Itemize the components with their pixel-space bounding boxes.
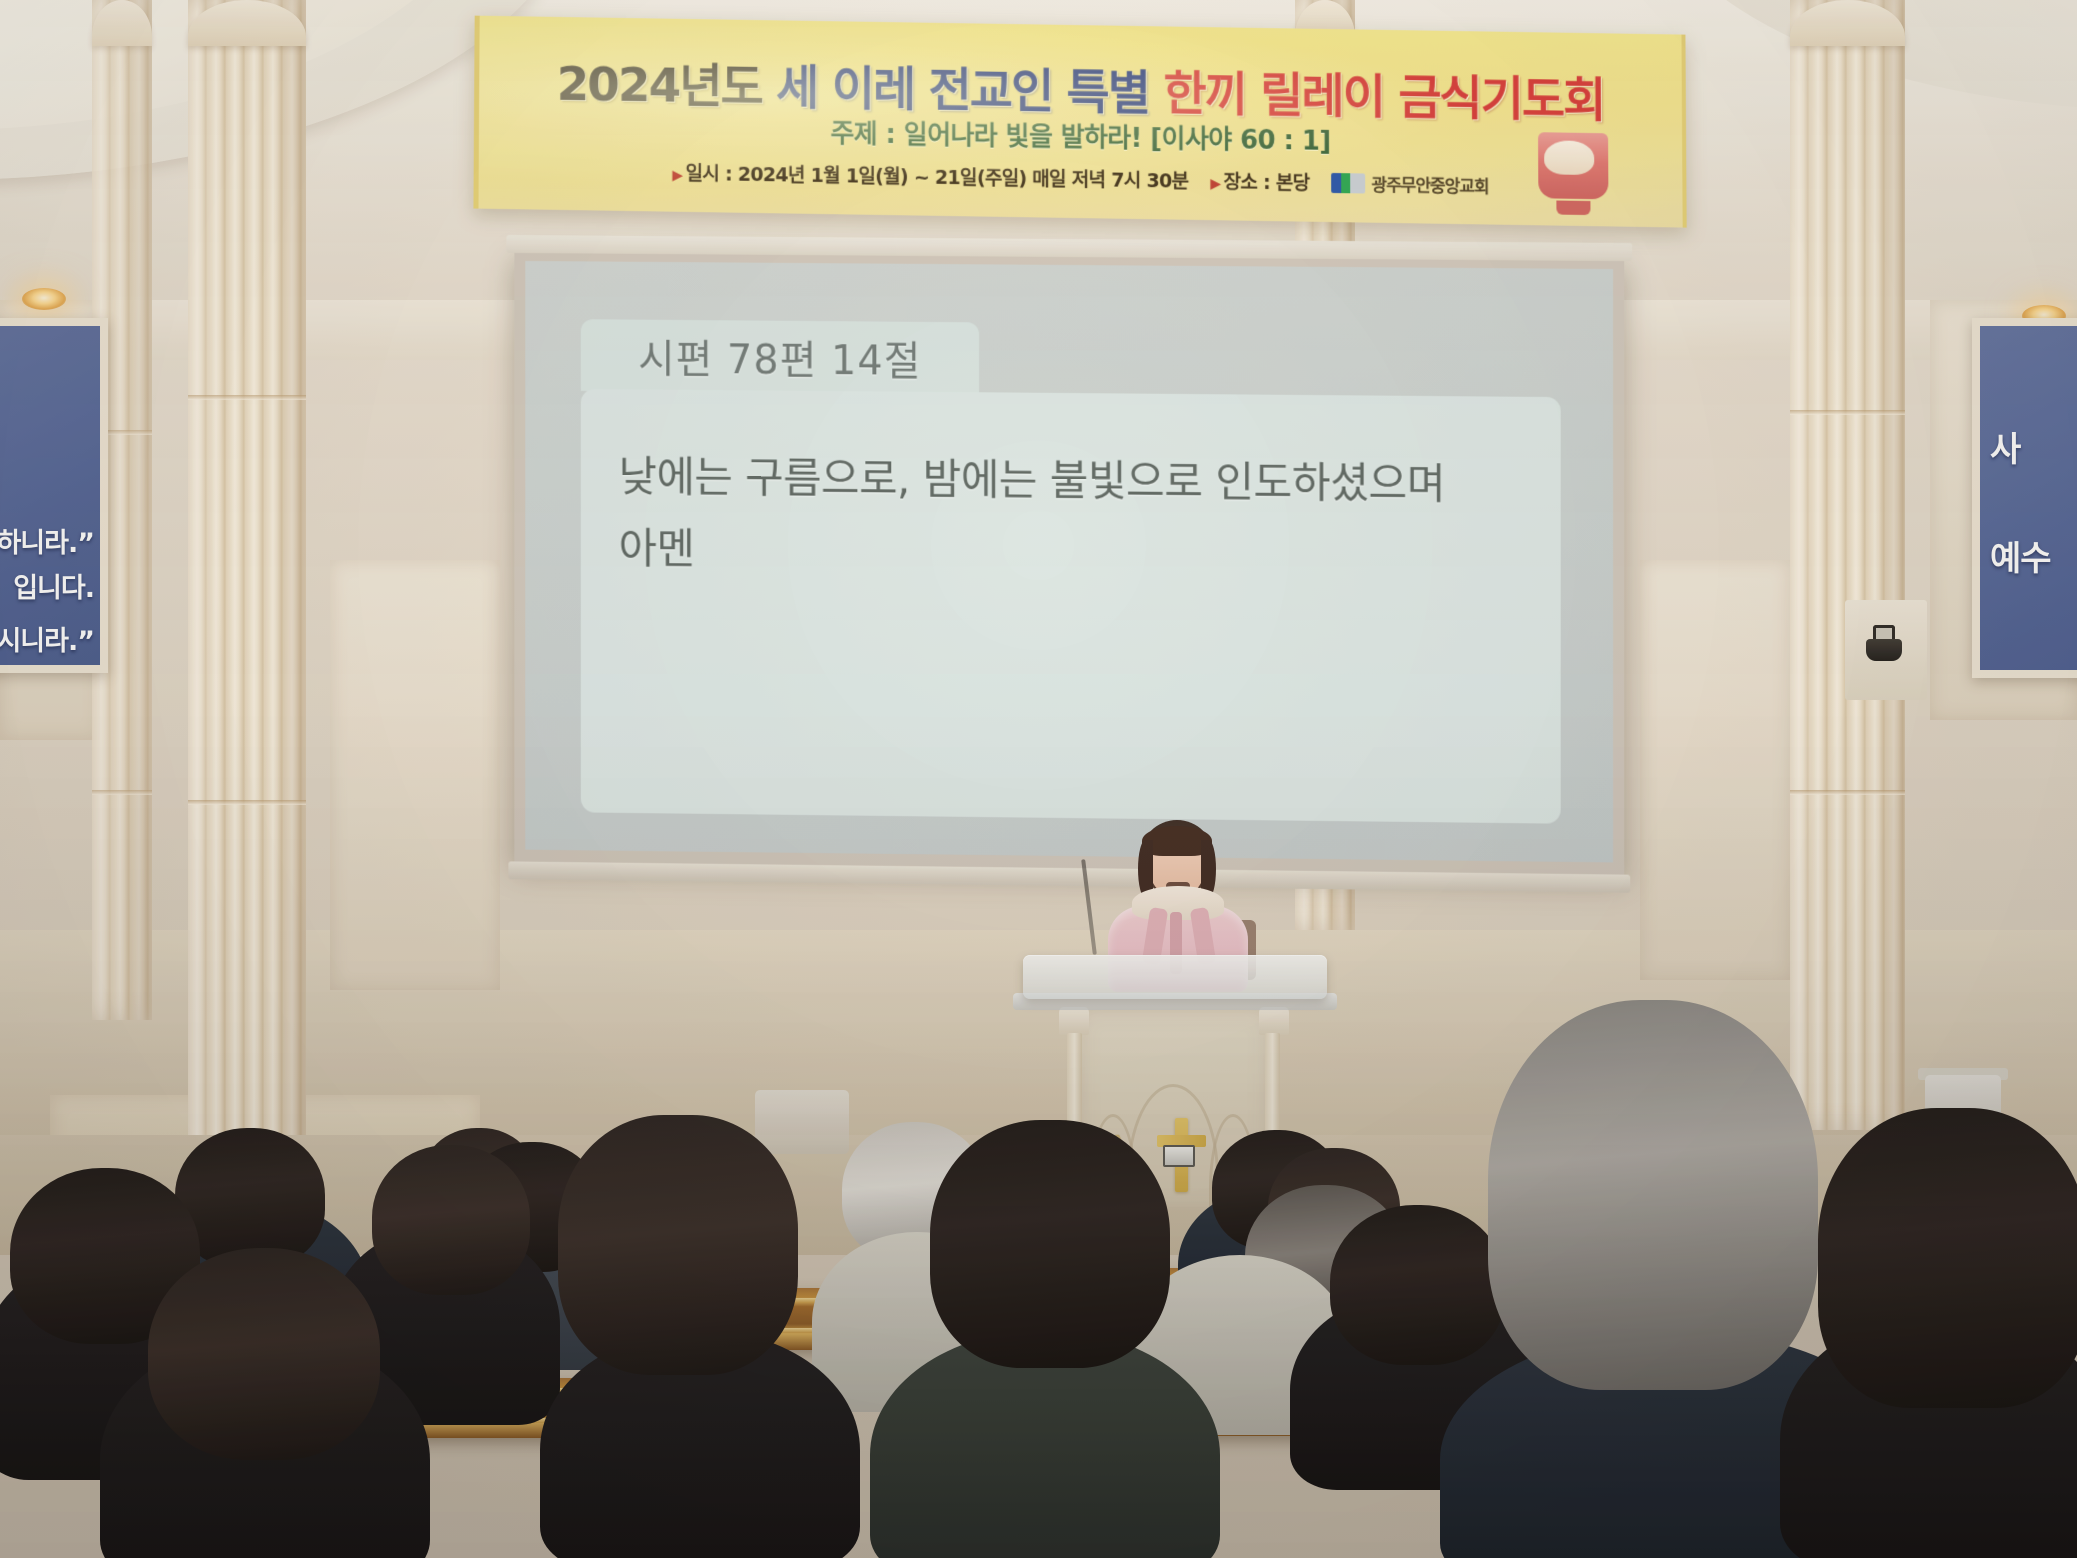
banner-date-label: 일시 — [685, 163, 719, 186]
pulpit-capital-left — [1059, 1007, 1089, 1035]
ptz-camera-icon — [1862, 625, 1906, 663]
pulpit-badge — [1163, 1145, 1195, 1167]
column-right — [1790, 0, 1905, 1130]
audience-head-bob — [558, 1115, 798, 1375]
slide-body: 낮에는 구름으로, 밤에는 불빛으로 인도하셨으며 아멘 — [581, 389, 1561, 824]
column-ring — [1790, 790, 1905, 795]
column-capital — [92, 0, 152, 46]
audience-head — [1818, 1108, 2077, 1408]
audience-head — [1330, 1205, 1505, 1365]
bowl-body — [1538, 132, 1608, 199]
flower-stand — [755, 1090, 849, 1154]
wall-banner-right-line-2: 예수 — [1980, 531, 2077, 580]
banner-place-label: 장소 — [1223, 171, 1257, 194]
slide-amen-line: 아멘 — [619, 513, 1523, 594]
projection-screen: 시편 78편 14절 낮에는 구름으로, 밤에는 불빛으로 인도하셨으며 아멘 — [514, 251, 1624, 877]
wall-banner-left-line-3: 리라 하시니라.” — [0, 619, 100, 658]
event-banner: 2024년도 세 이레 전교인 특별 한끼 릴레이 금식기도회 주제 : 일어나… — [473, 16, 1686, 228]
banner-place-group: ▶장소 : 본당 — [1210, 167, 1309, 196]
pulpit-top — [1023, 955, 1327, 999]
wall-banner-left: 하니라.” 입니다. 리라 하시니라.” — [0, 318, 108, 673]
rice-bowl-icon — [1530, 106, 1617, 205]
column-ring — [1790, 410, 1905, 415]
slide-verse-line: 낮에는 구름으로, 밤에는 불빛으로 인도하셨으며 — [619, 441, 1523, 521]
camera-body — [1866, 639, 1902, 661]
banner-date-value: 2024년 1월 1일(월) ~ 21일(주일) 매일 저녁 7시 30분 — [738, 164, 1189, 193]
screen-surface: 시편 78편 14절 낮에는 구름으로, 밤에는 불빛으로 인도하셨으며 아멘 — [525, 261, 1613, 862]
church-sanctuary-photo: 하니라.” 입니다. 리라 하시니라.” 사 예수 시편 78편 14절 낮에는… — [0, 0, 2077, 1558]
marker-icon: ▶ — [672, 168, 682, 184]
audience-head — [148, 1248, 380, 1460]
presentation-slide: 시편 78편 14절 낮에는 구름으로, 밤에는 불빛으로 인도하셨으며 아멘 — [525, 261, 1613, 862]
banner-title-year: 2024년도 — [556, 57, 761, 115]
column-left — [188, 0, 306, 1170]
pulpit-capital-right — [1259, 1007, 1289, 1035]
wall-banner-left-line-1: 하니라.” — [0, 521, 100, 560]
audience-head — [930, 1120, 1170, 1368]
church-name: 광주무안중앙교회 — [1371, 171, 1488, 198]
church-logo-icon — [1331, 172, 1365, 193]
wall-banner-right: 사 예수 — [1972, 318, 2077, 678]
banner-detail-row: ▶일시 : 2024년 1월 1일(월) ~ 21일(주일) 매일 저녁 7시 … — [479, 156, 1683, 202]
marker-icon: ▶ — [1210, 176, 1220, 192]
column-ring — [188, 395, 306, 400]
bowl-rice — [1544, 140, 1594, 175]
banner-church-group: 광주무안중앙교회 — [1331, 170, 1488, 197]
ceiling-spotlight — [22, 288, 66, 310]
slide-title: 시편 78편 14절 — [581, 319, 979, 394]
banner-date-group: ▶일시 : 2024년 1월 1일(월) ~ 21일(주일) 매일 저녁 7시 … — [672, 159, 1188, 194]
audience-head — [372, 1145, 530, 1295]
column-ring — [188, 800, 306, 805]
audience-head-gray — [1488, 1000, 1818, 1390]
column-ring — [92, 790, 152, 795]
slide-title-tab: 시편 78편 14절 — [581, 319, 979, 394]
wall-banner-left-line-2: 입니다. — [0, 566, 100, 605]
banner-place-value: 본당 — [1276, 172, 1310, 195]
bowl-foot — [1556, 201, 1590, 216]
wall-banner-right-line-1: 사 — [1980, 422, 2077, 471]
banner-title-navy: 세 이레 전교인 특별 — [776, 60, 1149, 121]
wall-panel-right — [1640, 560, 1790, 980]
wall-panel-left-2 — [330, 560, 500, 990]
column-capital — [188, 0, 306, 46]
column-capital — [1790, 0, 1905, 46]
